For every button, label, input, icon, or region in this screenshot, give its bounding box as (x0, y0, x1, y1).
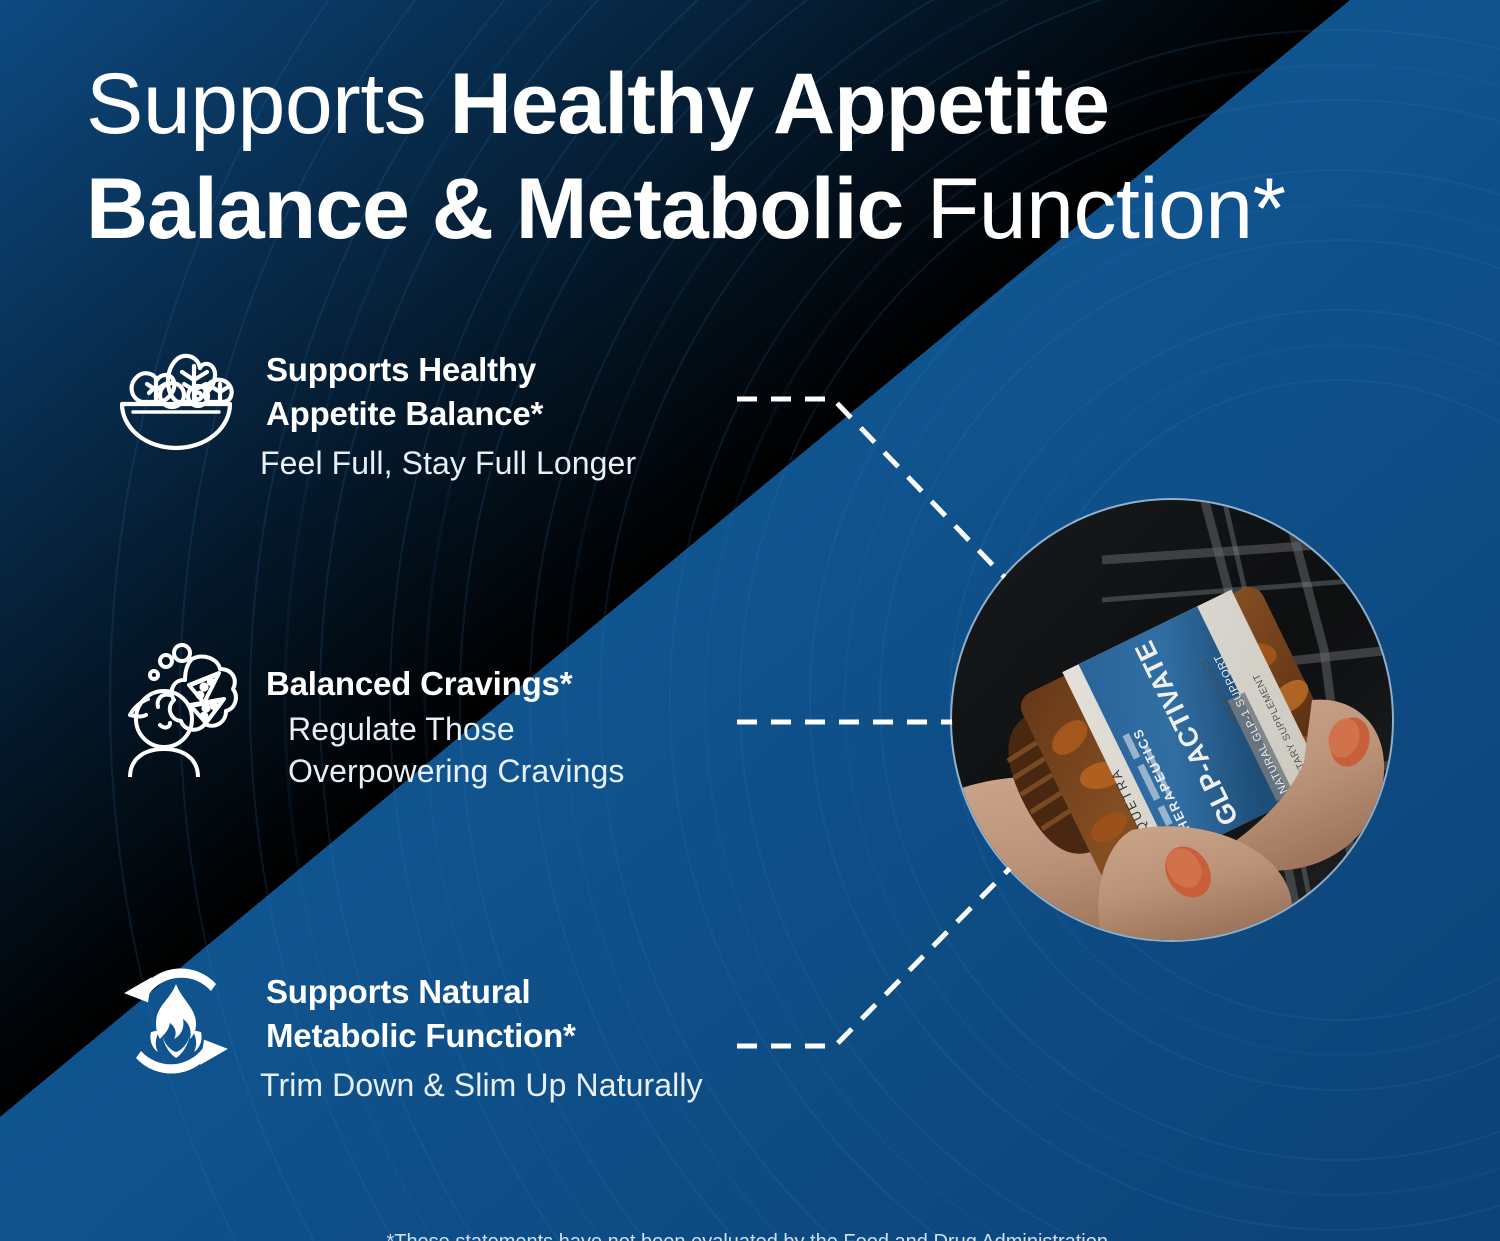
feature-balanced-cravings: Balanced Cravings* Regulate Those Overpo… (112, 648, 624, 793)
feature-text-block: Balanced Cravings* Regulate Those Overpo… (266, 648, 624, 793)
feature-subtitle: Trim Down & Slim Up Naturally (260, 1064, 703, 1107)
feature-subtitle: Feel Full, Stay Full Longer (260, 442, 636, 485)
page-title: Supports Healthy Appetite Balance & Meta… (86, 52, 1446, 262)
headline-bold-1: Healthy Appetite (450, 56, 1109, 152)
feature-subtitle: Regulate Those Overpowering Cravings (288, 708, 624, 793)
headline-bold-2: Balance & Metabolic (86, 161, 903, 257)
cravings-thought-bubble-icon (112, 648, 240, 766)
product-photo: TRIQUETRA THERAPEUTICS Rx GLP-ACTIVATE N (952, 500, 1392, 940)
infographic-root: Supports Healthy Appetite Balance & Meta… (0, 0, 1500, 1241)
salad-bowl-icon (112, 342, 240, 460)
feature-text-block: Supports Natural Metabolic Function* Tri… (266, 962, 703, 1106)
fda-disclaimer: *These statements have not been evaluate… (0, 1228, 1500, 1241)
feature-title: Supports Natural Metabolic Function* (266, 970, 703, 1058)
headline-light-2: Function* (903, 161, 1285, 257)
feature-appetite-balance: Supports Healthy Appetite Balance* Feel … (112, 342, 636, 484)
feature-metabolic-function: Supports Natural Metabolic Function* Tri… (112, 962, 703, 1106)
headline-line-1: Supports Healthy Appetite (86, 52, 1446, 157)
headline-light-1: Supports (86, 56, 450, 152)
metabolism-flame-cycle-icon (112, 962, 240, 1080)
headline-line-2: Balance & Metabolic Function* (86, 157, 1446, 262)
product-photo-circle: TRIQUETRA THERAPEUTICS Rx GLP-ACTIVATE N (952, 500, 1392, 940)
feature-title: Supports Healthy Appetite Balance* (266, 348, 636, 436)
feature-text-block: Supports Healthy Appetite Balance* Feel … (266, 342, 636, 484)
feature-title: Balanced Cravings* (266, 662, 624, 706)
